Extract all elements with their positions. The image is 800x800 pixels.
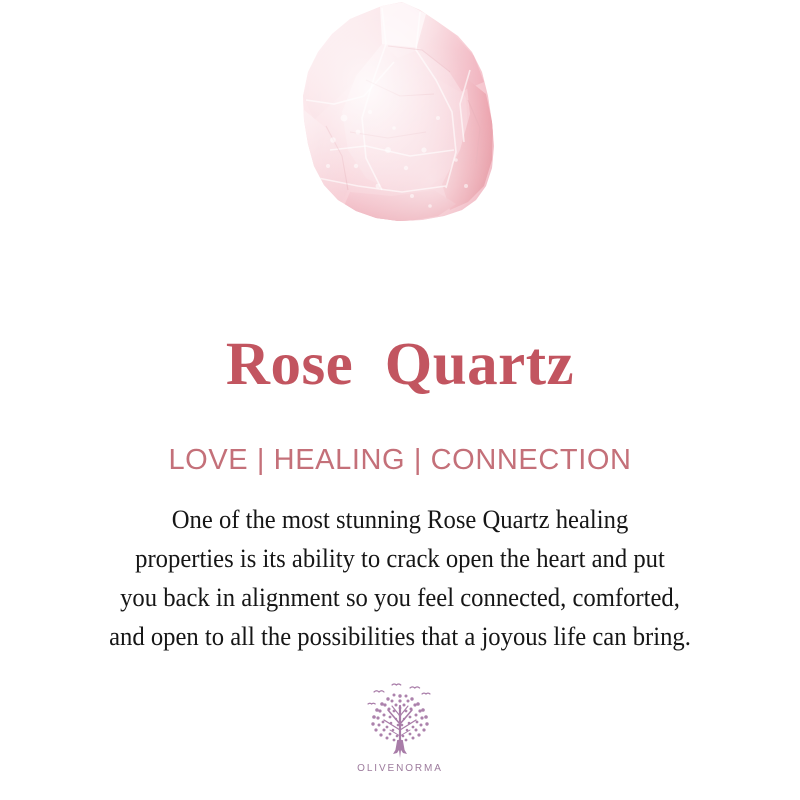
description-line-3: you back in alignment so you feel connec… — [60, 578, 741, 617]
crystal-body — [270, 0, 530, 300]
description-line-2: properties is its ability to crack open … — [60, 539, 741, 578]
description-paragraph: One of the most stunning Rose Quartz hea… — [60, 500, 741, 656]
tree-of-life-icon — [354, 680, 446, 760]
brand-wordmark: OLIVENORMA — [357, 763, 443, 774]
tree-branches — [384, 706, 416, 742]
rose-quartz-crystal-image — [0, 0, 800, 300]
brand-logo: OLIVENORMA — [0, 680, 800, 774]
crystal-illustration — [270, 0, 530, 300]
description-line-1: One of the most stunning Rose Quartz hea… — [60, 500, 741, 539]
description-line-4: and open to all the possibilities that a… — [60, 617, 741, 656]
page-title: Rose Quartz — [0, 332, 800, 398]
rose-quartz-infographic-card: Rose Quartz LOVE | HEALING | CONNECTION … — [0, 0, 800, 800]
tree-trunk — [393, 740, 407, 758]
keyword-subtitle: LOVE | HEALING | CONNECTION — [0, 443, 800, 477]
